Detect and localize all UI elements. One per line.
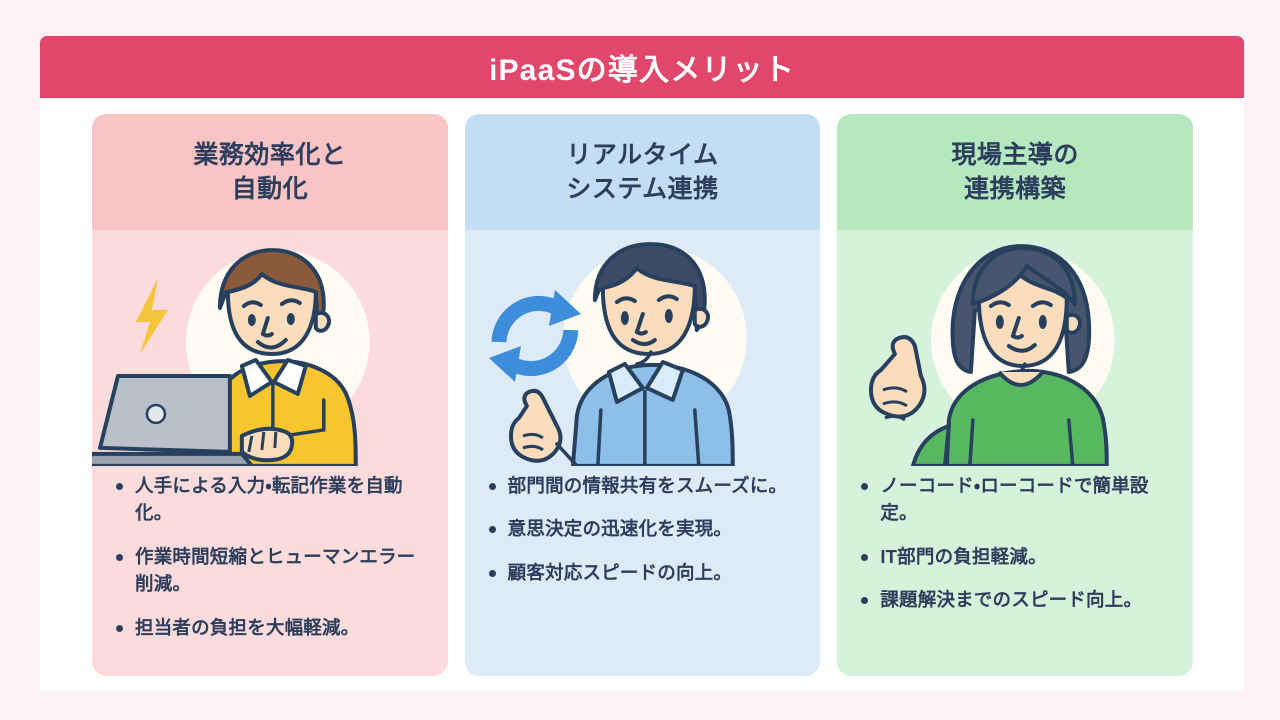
person-at-laptop-illustration [92,230,448,466]
card-header-onsite: 現場主導の 連携構築 [837,114,1193,230]
benefit-cards-row: 業務効率化と 自動化 [40,98,1244,690]
bullet-text: 課題解決までのスピード向上。 [880,586,1142,613]
card-body-efficiency: 人手による入力・転記作業を自動化。 作業時間短縮とヒューマンエラー削減。 担当者… [92,230,448,676]
person-thumbs-up-illustration [837,230,1193,466]
page-title: iPaaSの導入メリット [489,45,795,89]
benefit-card-realtime[interactable]: リアルタイム システム連携 [465,114,821,676]
person-pointing-illustration [465,230,821,466]
card-body-onsite: ノーコード・ローコードで簡単設定。 IT部門の負担軽減。 課題解決までのスピード… [837,230,1193,676]
bullet-dot-icon [116,625,123,632]
bullet-dot-icon [489,570,496,577]
bullet-item: 顧客対応スピードの向上。 [489,559,803,586]
bullet-item: 課題解決までのスピード向上。 [861,586,1175,613]
bullet-item: 作業時間短縮とヒューマンエラー削減。 [116,543,430,598]
card-title-efficiency: 業務効率化と 自動化 [193,138,346,207]
benefit-card-onsite[interactable]: 現場主導の 連携構築 [837,114,1193,676]
card-title-onsite: 現場主導の 連携構築 [951,138,1079,207]
bullet-dot-icon [861,554,868,561]
bullet-text: 人手による入力・転記作業を自動化。 [135,472,430,527]
bullet-dot-icon [116,483,123,490]
bullet-dot-icon [861,483,868,490]
bullet-text: IT部門の負担軽減。 [880,543,1046,570]
lightning-bolt-icon [136,278,168,354]
bullet-item: 人手による入力・転記作業を自動化。 [116,472,430,527]
bullet-list-realtime: 部門間の情報共有をスムーズに。 意思決定の迅速化を実現。 顧客対応スピードの向上… [465,466,821,676]
bullet-text: 部門間の情報共有をスムーズに。 [508,472,788,499]
bullet-list-onsite: ノーコード・ローコードで簡単設定。 IT部門の負担軽減。 課題解決までのスピード… [837,466,1193,676]
bullet-text: 意思決定の迅速化を実現。 [508,515,732,542]
bullet-dot-icon [489,526,496,533]
bullet-item: 意思決定の迅速化を実現。 [489,515,803,542]
bullet-dot-icon [489,483,496,490]
card-header-efficiency: 業務効率化と 自動化 [92,114,448,230]
card-body-realtime: 部門間の情報共有をスムーズに。 意思決定の迅速化を実現。 顧客対応スピードの向上… [465,230,821,676]
bullet-item: 担当者の負担を大幅軽減。 [116,614,430,641]
bullet-text: ノーコード・ローコードで簡単設定。 [880,472,1175,527]
bullet-list-efficiency: 人手による入力・転記作業を自動化。 作業時間短縮とヒューマンエラー削減。 担当者… [92,466,448,676]
bullet-dot-icon [861,597,868,604]
slide-container: iPaaSの導入メリット 業務効率化と 自動化 [40,36,1244,690]
slide-title-bar: iPaaSの導入メリット [40,36,1244,98]
card-header-realtime: リアルタイム システム連携 [465,114,821,230]
bullet-text: 顧客対応スピードの向上。 [508,559,732,586]
bullet-dot-icon [116,554,123,561]
thumbs-up-icon [871,337,925,420]
sync-arrows-icon [489,290,581,382]
benefit-card-efficiency[interactable]: 業務効率化と 自動化 [92,114,448,676]
card-title-realtime: リアルタイム システム連携 [566,138,718,207]
bullet-item: IT部門の負担軽減。 [861,543,1175,570]
bullet-item: ノーコード・ローコードで簡単設定。 [861,472,1175,527]
bullet-item: 部門間の情報共有をスムーズに。 [489,472,803,499]
bullet-text: 作業時間短縮とヒューマンエラー削減。 [135,543,430,598]
bullet-text: 担当者の負担を大幅軽減。 [135,614,359,641]
